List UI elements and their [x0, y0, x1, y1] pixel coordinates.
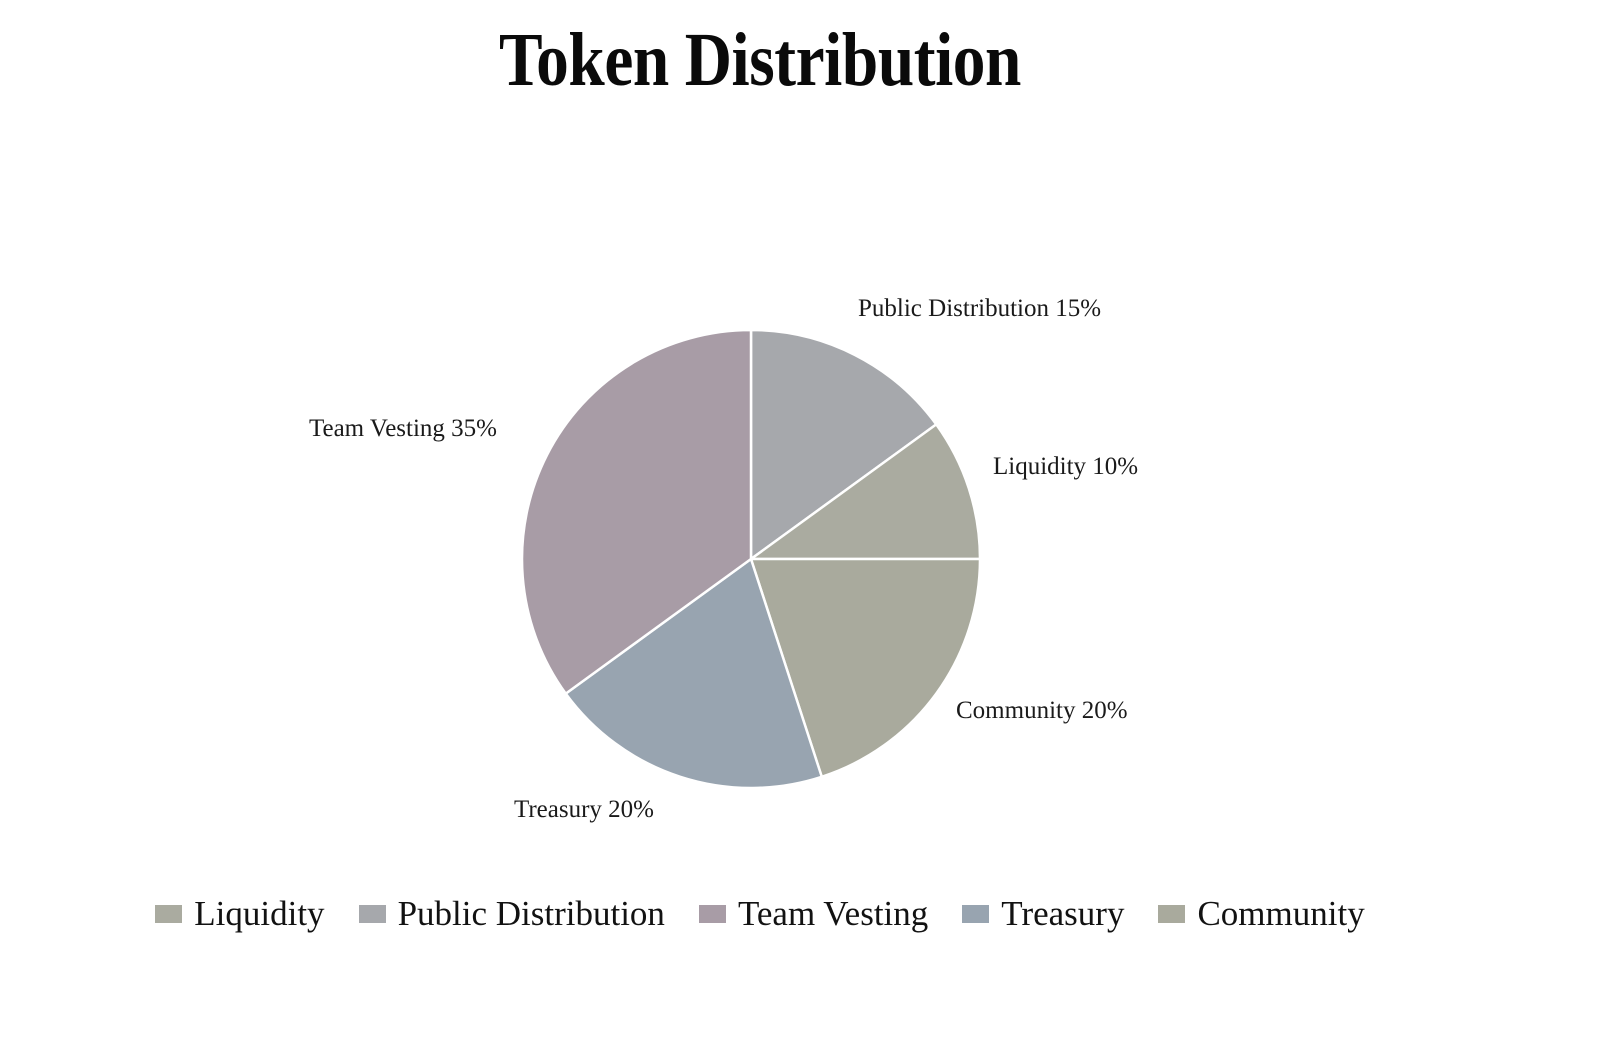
pie-slice-group	[522, 330, 980, 788]
pie-label-liquidity: Liquidity 10%	[993, 454, 1138, 479]
legend-swatch-icon	[962, 905, 989, 923]
legend-swatch-icon	[155, 905, 182, 923]
pie-label-public-distribution: Public Distribution 15%	[858, 296, 1101, 321]
legend-swatch-icon	[1158, 905, 1185, 923]
legend-item-label: Treasury	[1001, 896, 1124, 931]
legend-item-treasury[interactable]: Treasury	[962, 896, 1124, 931]
pie-label-team-vesting: Team Vesting 35%	[309, 416, 497, 441]
legend-swatch-icon	[699, 905, 726, 923]
legend-item-label: Liquidity	[194, 896, 324, 931]
pie-label-community: Community 20%	[956, 698, 1128, 723]
legend-item-label: Team Vesting	[738, 896, 928, 931]
legend-item-community[interactable]: Community	[1158, 896, 1364, 931]
pie-label-treasury: Treasury 20%	[514, 797, 654, 822]
legend-item-public-distribution[interactable]: Public Distribution	[359, 896, 665, 931]
legend-item-liquidity[interactable]: Liquidity	[155, 896, 324, 931]
legend-item-label: Public Distribution	[398, 896, 665, 931]
chart-legend: LiquidityPublic DistributionTeam Vesting…	[0, 896, 1520, 931]
legend-item-label: Community	[1197, 896, 1364, 931]
legend-swatch-icon	[359, 905, 386, 923]
legend-item-team-vesting[interactable]: Team Vesting	[699, 896, 928, 931]
